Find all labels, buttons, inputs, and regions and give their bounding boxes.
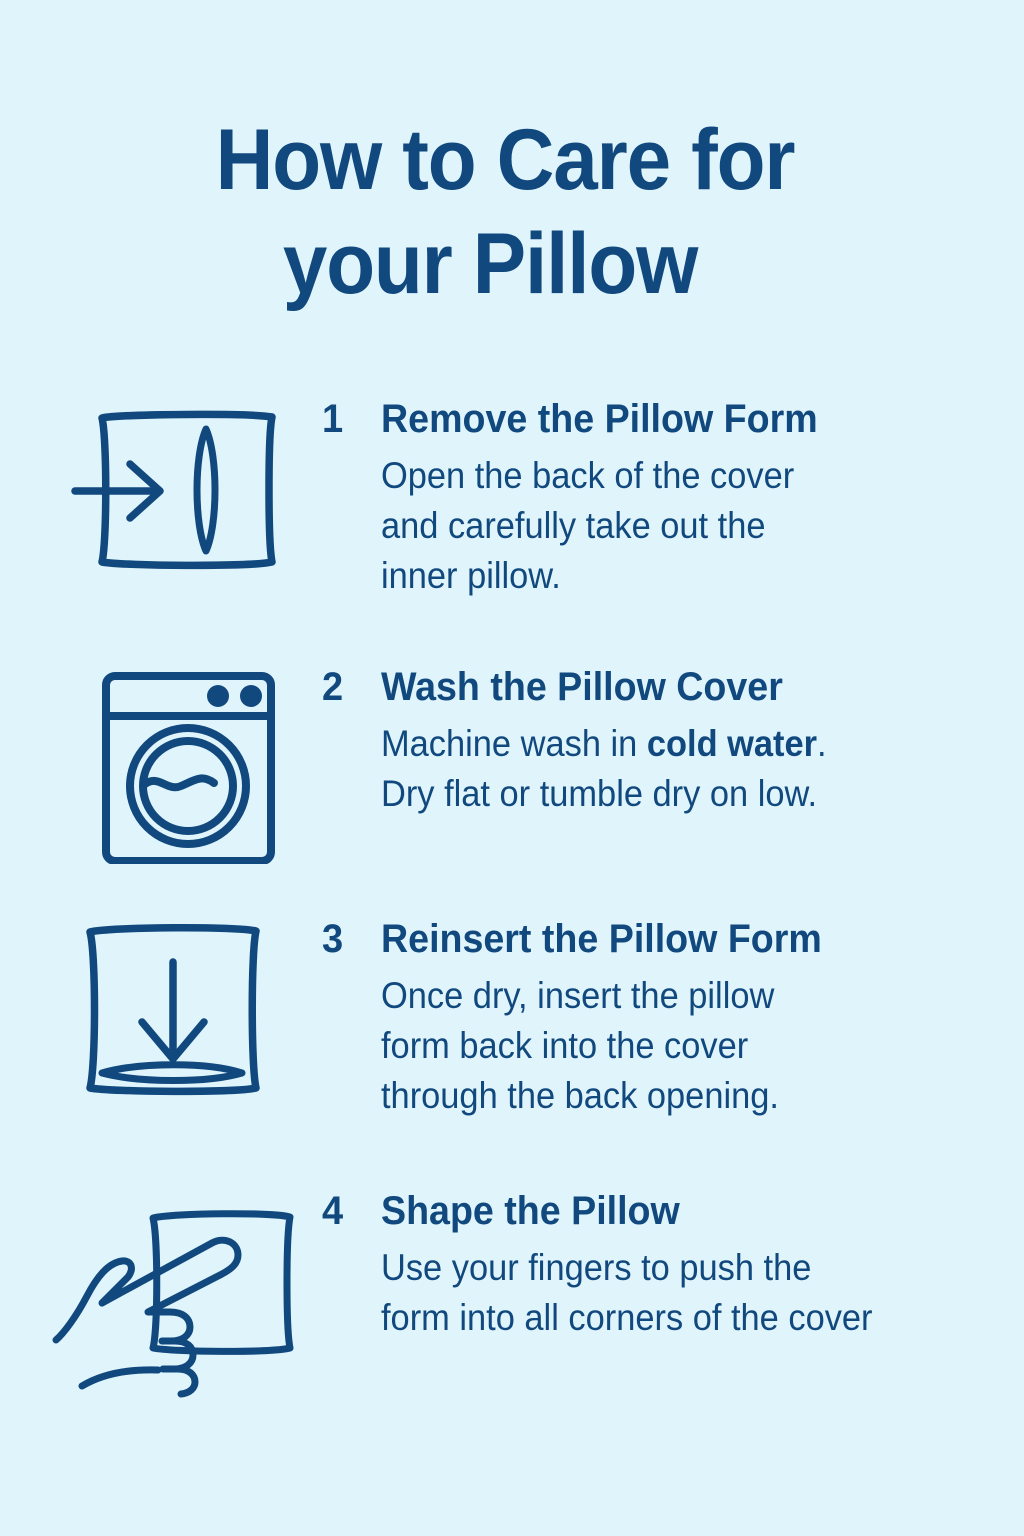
step-3-body-line-3: through the back opening. xyxy=(381,1071,921,1121)
step-3-number: 3 xyxy=(322,916,378,962)
step-1-body-line-1: Open the back of the cover xyxy=(381,451,921,501)
step-3-body: Once dry, insert the pillow form back in… xyxy=(381,971,921,1121)
steps-list: 1 Remove the Pillow Form Open the back o… xyxy=(0,396,1024,1388)
step-2-number: 2 xyxy=(322,664,378,710)
step-1-body-line-2: and carefully take out the xyxy=(381,501,921,551)
step-4-icon-cell xyxy=(50,1188,305,1388)
step-1-text-cell: 1 Remove the Pillow Form Open the back o… xyxy=(322,396,962,601)
washing-machine-icon xyxy=(50,664,305,864)
step-1-title: Remove the Pillow Form xyxy=(381,396,818,442)
step-item: 1 Remove the Pillow Form Open the back o… xyxy=(0,396,1024,664)
step-2-body-emphasis: cold water xyxy=(647,723,817,764)
step-item: 3 Reinsert the Pillow Form Once dry, ins… xyxy=(0,916,1024,1188)
hand-pointing-at-pillow-icon xyxy=(50,1188,305,1398)
step-4-title: Shape the Pillow xyxy=(381,1188,680,1234)
step-2-body-line-2: Dry flat or tumble dry on low. xyxy=(381,769,921,819)
step-2-heading: 2 Wash the Pillow Cover xyxy=(322,664,962,710)
step-1-heading: 1 Remove the Pillow Form xyxy=(322,396,962,442)
step-1-body: Open the back of the cover and carefully… xyxy=(381,451,921,601)
step-2-body-pre: Machine wash in xyxy=(381,723,647,764)
step-3-body-line-1: Once dry, insert the pillow xyxy=(381,971,921,1021)
page-title-line-2: your Pillow xyxy=(0,212,987,316)
step-2-icon-cell xyxy=(50,664,305,864)
step-2-body-line-1: Machine wash in cold water. xyxy=(381,719,921,769)
step-item: 4 Shape the Pillow Use your fingers to p… xyxy=(0,1188,1024,1388)
pillow-with-down-arrow-icon xyxy=(50,916,305,1116)
step-1-number: 1 xyxy=(322,396,378,442)
step-2-body-post: . xyxy=(817,723,827,764)
step-2-title: Wash the Pillow Cover xyxy=(381,664,783,710)
infographic-page: How to Care for your Pillow 1 xyxy=(0,0,1024,1536)
step-1-body-line-3: inner pillow. xyxy=(381,551,921,601)
step-3-text-cell: 3 Reinsert the Pillow Form Once dry, ins… xyxy=(322,916,962,1121)
step-4-body-line-1: Use your fingers to push the xyxy=(381,1243,921,1293)
step-3-icon-cell xyxy=(50,916,305,1116)
step-3-body-line-2: form back into the cover xyxy=(381,1021,921,1071)
step-3-title: Reinsert the Pillow Form xyxy=(381,916,822,962)
pillow-with-insert-arrow-icon xyxy=(50,396,305,596)
step-4-number: 4 xyxy=(322,1188,378,1234)
step-2-text-cell: 2 Wash the Pillow Cover Machine wash in … xyxy=(322,664,962,819)
step-4-heading: 4 Shape the Pillow xyxy=(322,1188,962,1234)
step-4-text-cell: 4 Shape the Pillow Use your fingers to p… xyxy=(322,1188,962,1343)
step-2-body: Machine wash in cold water. Dry flat or … xyxy=(381,719,921,819)
step-item: 2 Wash the Pillow Cover Machine wash in … xyxy=(0,664,1024,916)
step-1-icon-cell xyxy=(50,396,305,596)
page-title-line-1: How to Care for xyxy=(22,108,987,212)
step-4-body-line-2: form into all corners of the cover xyxy=(381,1293,921,1343)
page-title: How to Care for your Pillow xyxy=(0,108,1024,316)
step-4-body: Use your fingers to push the form into a… xyxy=(381,1243,921,1343)
step-3-heading: 3 Reinsert the Pillow Form xyxy=(322,916,962,962)
